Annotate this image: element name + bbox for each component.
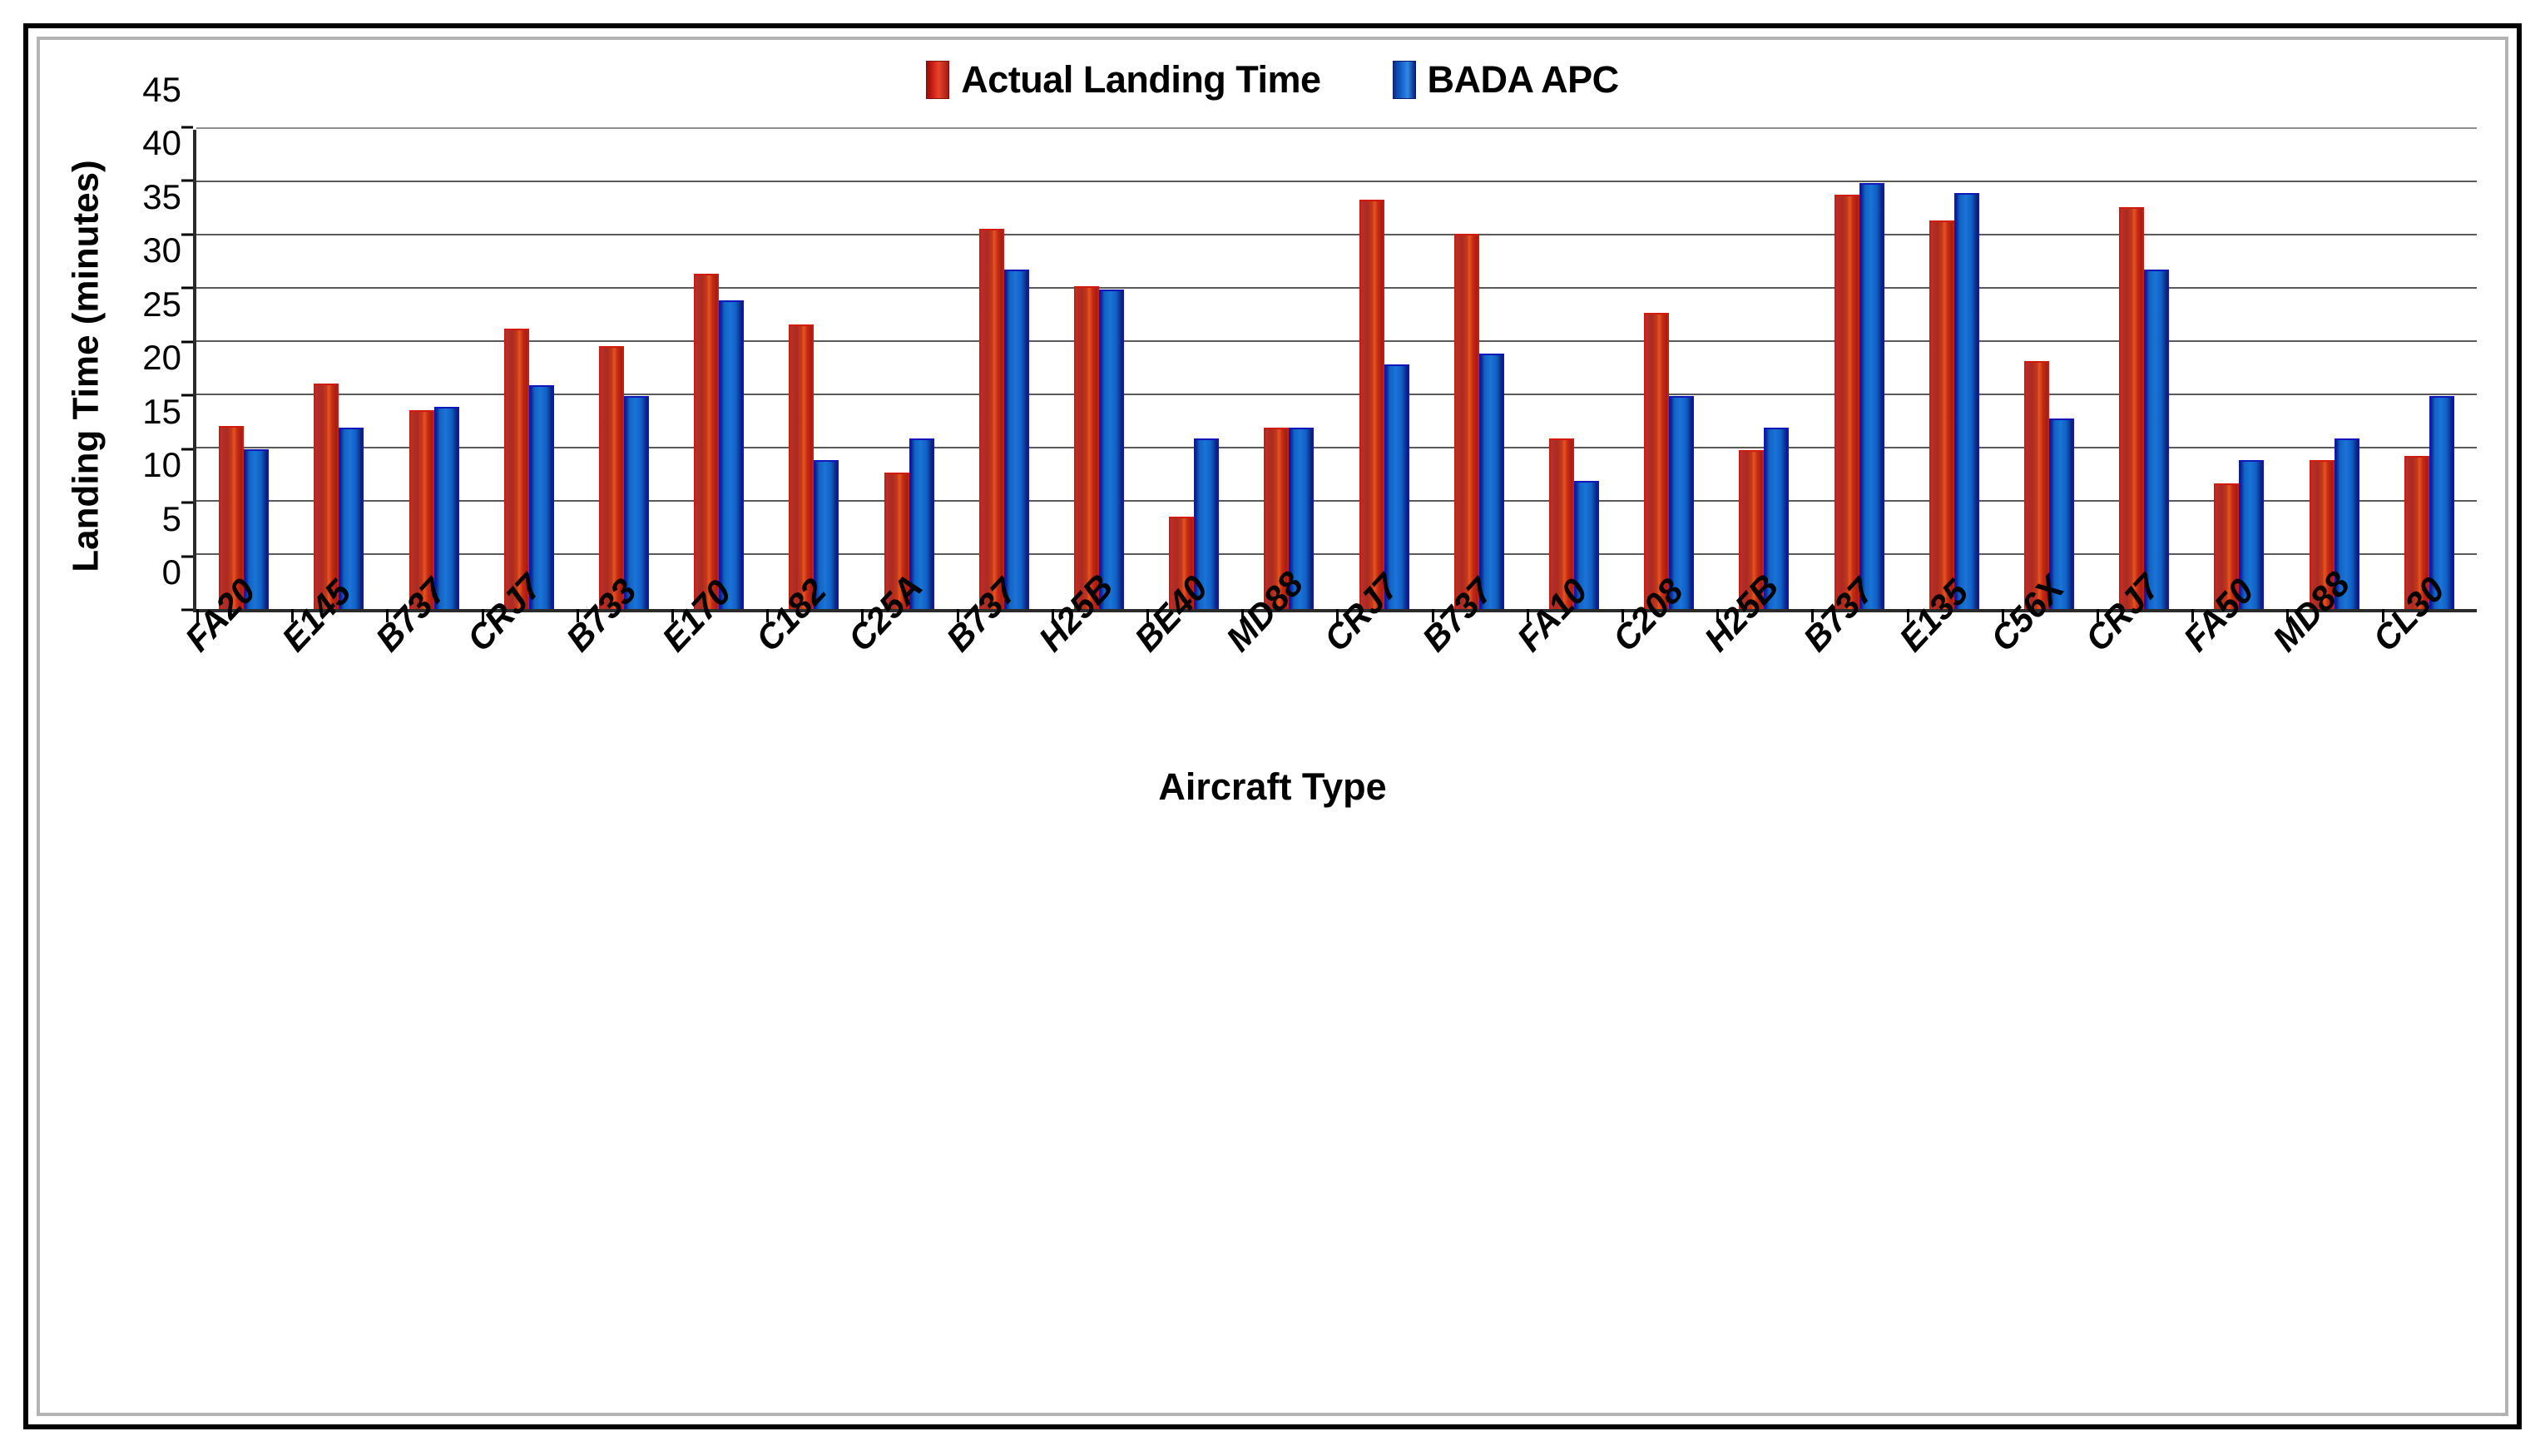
x-label-cell: FA20 (193, 617, 288, 784)
bar-group (2286, 130, 2381, 609)
bar-bada-apc[interactable] (624, 396, 649, 609)
bar-group (2382, 130, 2477, 609)
bar-group (1622, 130, 1716, 609)
x-label-cell: CRJ7 (2097, 617, 2191, 784)
x-label-cell: CRJ7 (478, 617, 573, 784)
y-tick-mark (181, 233, 193, 235)
bar-bada-apc[interactable] (2429, 396, 2454, 609)
bar-bada-apc[interactable] (1479, 354, 1504, 609)
bar-bada-apc[interactable] (1954, 193, 1979, 609)
inner-border: Actual Landing Time BADA APC Landing Tim… (37, 37, 2508, 1416)
x-label-cell: B737 (954, 617, 1049, 784)
y-tick-label: 15 (142, 392, 181, 432)
bar-group (1907, 130, 2002, 609)
y-tick-mark (181, 287, 193, 290)
bar-group (766, 130, 861, 609)
bar-group (957, 130, 1052, 609)
y-tick-mark (181, 180, 193, 182)
x-label-cell: C182 (764, 617, 859, 784)
bar-group (2191, 130, 2286, 609)
x-label-cell: E170 (669, 617, 764, 784)
x-label-cell: C208 (1621, 617, 1716, 784)
x-label-cell: H25B (1049, 617, 1144, 784)
bar-actual-landing-time[interactable] (1644, 313, 1669, 609)
x-label-cell: E145 (288, 617, 383, 784)
bar-group (1336, 130, 1431, 609)
bar-group (196, 130, 291, 609)
bar-bada-apc[interactable] (1384, 364, 1409, 609)
bar-group (386, 130, 481, 609)
bar-group (1432, 130, 1527, 609)
x-label-cell: B737 (384, 617, 478, 784)
x-axis-labels: FA20E145B737CRJ7B733E170C182C25AB737H25B… (193, 617, 2477, 784)
bar-group (577, 130, 671, 609)
x-label-cell: CRJ7 (1335, 617, 1430, 784)
bar-bada-apc[interactable] (1859, 183, 1884, 609)
y-tick-mark (181, 394, 193, 397)
y-tick-mark (181, 555, 193, 557)
x-label-cell: FA10 (1525, 617, 1620, 784)
legend-swatch-red-icon (926, 61, 949, 99)
y-axis-ticks: 051015202530354045 (120, 130, 193, 612)
y-tick-label: 20 (142, 338, 181, 378)
legend-item-actual-landing-time: Actual Landing Time (926, 58, 1320, 102)
bar-group (2002, 130, 2097, 609)
y-tick-label: 35 (142, 177, 181, 217)
bar-group (1527, 130, 1622, 609)
bar-group (671, 130, 766, 609)
bar-group (1241, 130, 1336, 609)
x-label-cell: B733 (574, 617, 669, 784)
bar-group (2097, 130, 2191, 609)
plot-wrapper: 051015202530354045 (120, 130, 2477, 612)
bar-bada-apc[interactable] (339, 428, 364, 609)
x-axis-title: Aircraft Type (40, 765, 2505, 809)
bar-actual-landing-time[interactable] (1074, 286, 1099, 609)
x-label-cell: H25B (1716, 617, 1810, 784)
x-label-cell: FA50 (2191, 617, 2286, 784)
bar-actual-landing-time[interactable] (1929, 220, 1954, 609)
bar-bada-apc[interactable] (434, 407, 459, 609)
x-label-cell: E135 (1906, 617, 2001, 784)
x-label-cell: BE40 (1145, 617, 1240, 784)
bar-bada-apc[interactable] (719, 300, 744, 609)
chart-canvas: Actual Landing Time BADA APC Landing Tim… (40, 40, 2505, 1413)
legend-swatch-blue-icon (1393, 61, 1416, 99)
y-tick-label: 30 (142, 230, 181, 270)
bar-actual-landing-time[interactable] (1359, 200, 1384, 609)
outer-border: Actual Landing Time BADA APC Landing Tim… (23, 23, 2522, 1429)
x-label-cell: MD88 (2286, 617, 2381, 784)
y-tick-mark (181, 126, 193, 129)
bar-actual-landing-time[interactable] (599, 346, 624, 609)
chart-legend: Actual Landing Time BADA APC (40, 58, 2505, 102)
bar-group (1146, 130, 1241, 609)
x-label-cell: B737 (1810, 617, 1905, 784)
legend-label-bada-apc: BADA APC (1428, 58, 1619, 102)
plot-area (193, 130, 2477, 612)
legend-item-bada-apc: BADA APC (1393, 58, 1619, 102)
bar-bada-apc[interactable] (1669, 396, 1694, 609)
bar-actual-landing-time[interactable] (1454, 234, 1479, 609)
x-label-cell: CL30 (2382, 617, 2477, 784)
bar-actual-landing-time[interactable] (1834, 195, 1859, 609)
y-tick-label: 10 (142, 445, 181, 485)
bar-bada-apc[interactable] (2144, 270, 2169, 609)
bar-group (861, 130, 956, 609)
bar-actual-landing-time[interactable] (2119, 207, 2144, 609)
y-tick-mark (181, 609, 193, 612)
legend-label-actual-landing-time: Actual Landing Time (961, 58, 1320, 102)
bar-groups (196, 130, 2477, 609)
gridline (196, 127, 2477, 129)
y-axis-title-text: Landing Time (minutes) (66, 160, 107, 572)
bar-actual-landing-time[interactable] (979, 229, 1004, 609)
bar-bada-apc[interactable] (1099, 290, 1124, 609)
y-tick-mark (181, 448, 193, 450)
x-label-cell: MD88 (1240, 617, 1334, 784)
x-label-cell: C56X (2001, 617, 2096, 784)
y-axis-title: Landing Time (minutes) (62, 133, 111, 599)
bar-group (291, 130, 386, 609)
y-tick-label: 45 (142, 70, 181, 110)
bar-actual-landing-time[interactable] (789, 324, 814, 609)
y-tick-mark (181, 502, 193, 504)
chart-page: Actual Landing Time BADA APC Landing Tim… (0, 0, 2545, 1456)
bar-group (1811, 130, 1906, 609)
y-tick-mark (181, 340, 193, 343)
bar-group (1716, 130, 1811, 609)
y-tick-label: 5 (162, 499, 181, 539)
bar-bada-apc[interactable] (529, 385, 554, 609)
y-tick-label: 0 (162, 552, 181, 592)
bar-bada-apc[interactable] (1004, 270, 1029, 609)
x-label-cell: C25A (859, 617, 954, 784)
y-tick-label: 40 (142, 123, 181, 163)
bar-group (482, 130, 577, 609)
x-label-cell: B737 (1430, 617, 1525, 784)
bar-actual-landing-time[interactable] (694, 274, 719, 609)
bar-group (1052, 130, 1146, 609)
y-tick-label: 25 (142, 285, 181, 324)
bar-actual-landing-time[interactable] (504, 329, 529, 609)
